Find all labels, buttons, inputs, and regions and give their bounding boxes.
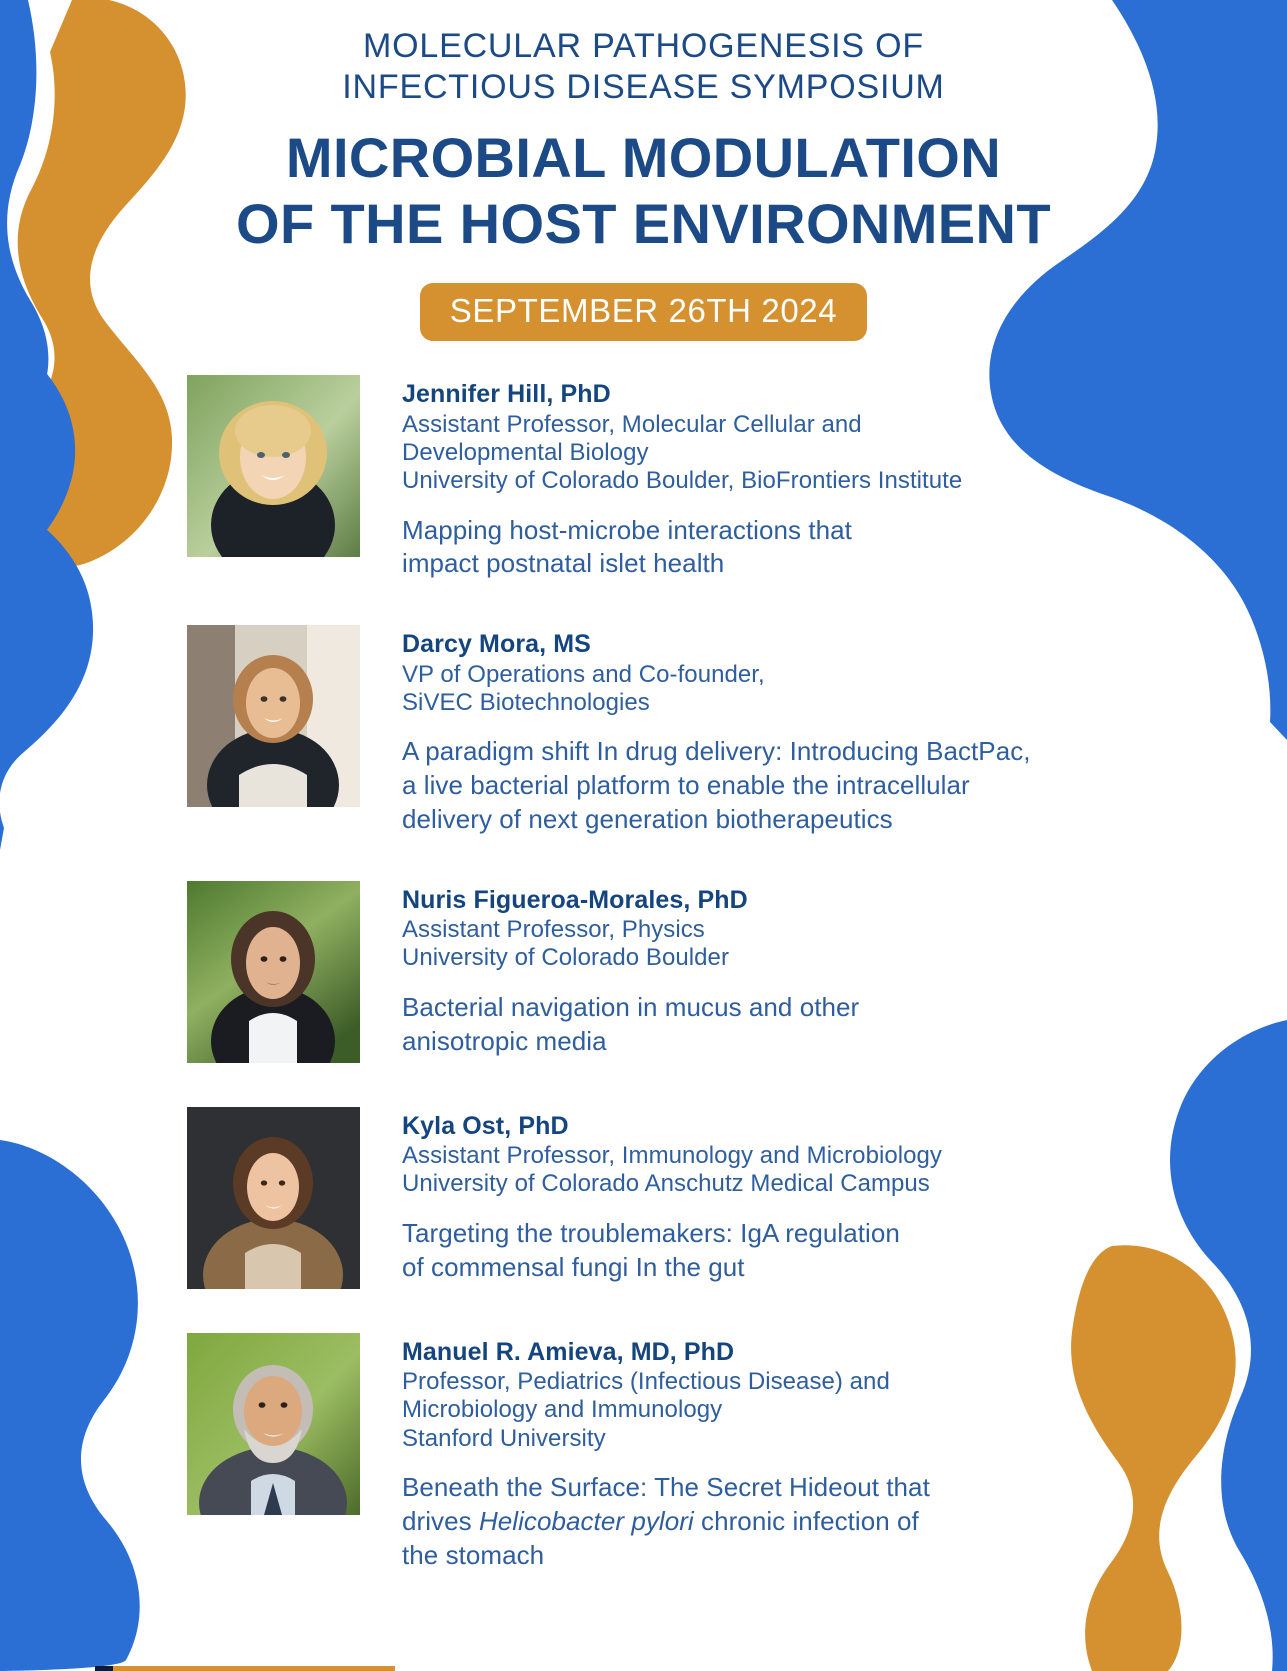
poster-header: MOLECULAR PATHOGENESIS OF INFECTIOUS DIS…	[0, 0, 1287, 341]
talk-line-1: Beneath the Surface: The Secret Hideout …	[402, 1471, 930, 1505]
date-badge-wrapper: SEPTEMBER 26TH 2024	[0, 283, 1287, 341]
speaker-entry: Darcy Mora, MS VP of Operations and Co-f…	[187, 625, 1287, 837]
speaker-info: Darcy Mora, MS VP of Operations and Co-f…	[402, 625, 1031, 837]
symposium-poster: MOLECULAR PATHOGENESIS OF INFECTIOUS DIS…	[0, 0, 1287, 1671]
talk-line-2: drives Helicobacter pylori chronic infec…	[402, 1505, 930, 1539]
species-name-italic: Helicobacter pylori	[479, 1506, 694, 1536]
talk-line-2-pre: drives	[402, 1506, 479, 1536]
talk-line-2: impact postnatal islet health	[402, 547, 962, 581]
affiliation-line-1: Assistant Professor, Immunology and Micr…	[402, 1142, 942, 1170]
speaker-list: Jennifer Hill, PhD Assistant Professor, …	[0, 375, 1287, 1572]
talk-line-1: Targeting the troublemakers: IgA regulat…	[402, 1217, 942, 1251]
talk-line-2-post: chronic infection of	[694, 1506, 919, 1536]
title-line-1: MICROBIAL MODULATION	[0, 125, 1287, 191]
speaker-talk-title: Beneath the Surface: The Secret Hideout …	[402, 1471, 930, 1572]
speaker-name: Darcy Mora, MS	[402, 629, 1031, 661]
talk-line-2: anisotropic media	[402, 1025, 859, 1059]
affiliation-line-2: University of Colorado Boulder	[402, 944, 859, 972]
affiliation-line-1: VP of Operations and Co-founder,	[402, 661, 1031, 689]
affiliation-line-1: Assistant Professor, Physics	[402, 916, 859, 944]
speaker-talk-title: A paradigm shift In drug delivery: Intro…	[402, 735, 1031, 836]
page-title: MICROBIAL MODULATION OF THE HOST ENVIRON…	[0, 125, 1287, 257]
speaker-info: Manuel R. Amieva, MD, PhD Professor, Ped…	[402, 1333, 930, 1573]
speaker-talk-title: Mapping host-microbe interactions that i…	[402, 514, 962, 582]
talk-line-2: of commensal fungi In the gut	[402, 1251, 942, 1285]
eyebrow-line-2: INFECTIOUS DISEASE SYMPOSIUM	[0, 67, 1287, 108]
affiliation-line-2: Developmental Biology	[402, 439, 962, 467]
affiliation-line-2: SiVEC Biotechnologies	[402, 689, 1031, 717]
speaker-talk-title: Bacterial navigation in mucus and other …	[402, 991, 859, 1059]
speaker-photo	[187, 881, 360, 1063]
speaker-photo	[187, 625, 360, 807]
speaker-name: Kyla Ost, PhD	[402, 1111, 942, 1143]
speaker-affiliation: Assistant Professor, Immunology and Micr…	[402, 1142, 942, 1199]
talk-line-1: Bacterial navigation in mucus and other	[402, 991, 859, 1025]
affiliation-line-1: Assistant Professor, Molecular Cellular …	[402, 411, 962, 439]
speaker-affiliation: Professor, Pediatrics (Infectious Diseas…	[402, 1368, 930, 1453]
bottom-accent-strip	[95, 1666, 395, 1671]
speaker-photo	[187, 1107, 360, 1289]
speaker-entry: Jennifer Hill, PhD Assistant Professor, …	[187, 375, 1287, 581]
speaker-entry: Nuris Figueroa-Morales, PhD Assistant Pr…	[187, 881, 1287, 1063]
talk-line-3: the stomach	[402, 1539, 930, 1573]
eyebrow-text: MOLECULAR PATHOGENESIS OF INFECTIOUS DIS…	[0, 26, 1287, 109]
talk-line-1: Mapping host-microbe interactions that	[402, 514, 962, 548]
eyebrow-line-1: MOLECULAR PATHOGENESIS OF	[0, 26, 1287, 67]
speaker-name: Manuel R. Amieva, MD, PhD	[402, 1337, 930, 1369]
speaker-photo	[187, 375, 360, 557]
talk-line-2: a live bacterial platform to enable the …	[402, 769, 1031, 803]
speaker-info: Kyla Ost, PhD Assistant Professor, Immun…	[402, 1107, 942, 1285]
date-badge: SEPTEMBER 26TH 2024	[420, 283, 867, 341]
speaker-name: Nuris Figueroa-Morales, PhD	[402, 885, 859, 917]
speaker-photo	[187, 1333, 360, 1515]
speaker-affiliation: VP of Operations and Co-founder, SiVEC B…	[402, 661, 1031, 718]
title-line-2: OF THE HOST ENVIRONMENT	[0, 191, 1287, 257]
speaker-info: Nuris Figueroa-Morales, PhD Assistant Pr…	[402, 881, 859, 1059]
speaker-name: Jennifer Hill, PhD	[402, 379, 962, 411]
talk-line-3: delivery of next generation biotherapeut…	[402, 803, 1031, 837]
speaker-info: Jennifer Hill, PhD Assistant Professor, …	[402, 375, 962, 581]
speaker-entry: Manuel R. Amieva, MD, PhD Professor, Ped…	[187, 1333, 1287, 1573]
talk-line-1: A paradigm shift In drug delivery: Intro…	[402, 735, 1031, 769]
speaker-affiliation: Assistant Professor, Molecular Cellular …	[402, 411, 962, 496]
speaker-affiliation: Assistant Professor, Physics University …	[402, 916, 859, 973]
affiliation-line-2: University of Colorado Anschutz Medical …	[402, 1170, 942, 1198]
affiliation-line-3: University of Colorado Boulder, BioFront…	[402, 467, 962, 495]
affiliation-line-2: Microbiology and Immunology	[402, 1396, 930, 1424]
speaker-entry: Kyla Ost, PhD Assistant Professor, Immun…	[187, 1107, 1287, 1289]
speaker-talk-title: Targeting the troublemakers: IgA regulat…	[402, 1217, 942, 1285]
affiliation-line-1: Professor, Pediatrics (Infectious Diseas…	[402, 1368, 930, 1396]
affiliation-line-3: Stanford University	[402, 1425, 930, 1453]
